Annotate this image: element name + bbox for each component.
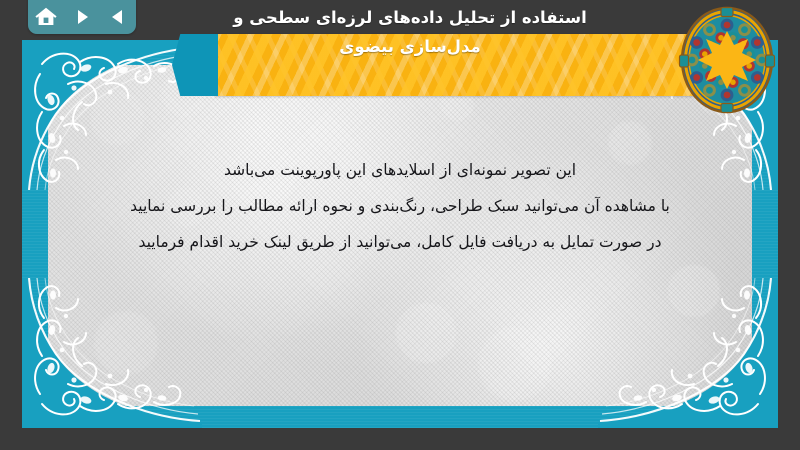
home-button[interactable] (33, 5, 59, 29)
bokeh-circle (94, 311, 158, 375)
header-arrow-connector (172, 34, 218, 96)
next-slide-button[interactable] (69, 5, 95, 29)
previous-slide-button[interactable] (105, 5, 131, 29)
bokeh-circle (90, 91, 144, 145)
slide-title-banner (215, 34, 720, 96)
slide-body-text: این تصویر نمونه‌ای از اسلایدهای این پاور… (22, 152, 778, 260)
body-line-1: این تصویر نمونه‌ای از اسلایدهای این پاور… (46, 152, 754, 188)
persian-toranj-medallion (678, 6, 776, 114)
bokeh-circle (668, 265, 720, 317)
body-line-3: در صورت تمایل به دریافت فایل کامل، می‌تو… (46, 224, 754, 260)
slide-navigation-bar (28, 0, 136, 34)
slide-viewer: این تصویر نمونه‌ای از اسلایدهای این پاور… (0, 0, 800, 450)
bokeh-circle (478, 327, 552, 401)
body-line-2: با مشاهده آن می‌توانید سبک طراحی، رنگ‌بن… (46, 188, 754, 224)
slide-frame: این تصویر نمونه‌ای از اسلایدهای این پاور… (22, 40, 778, 428)
bokeh-circle (396, 303, 456, 363)
